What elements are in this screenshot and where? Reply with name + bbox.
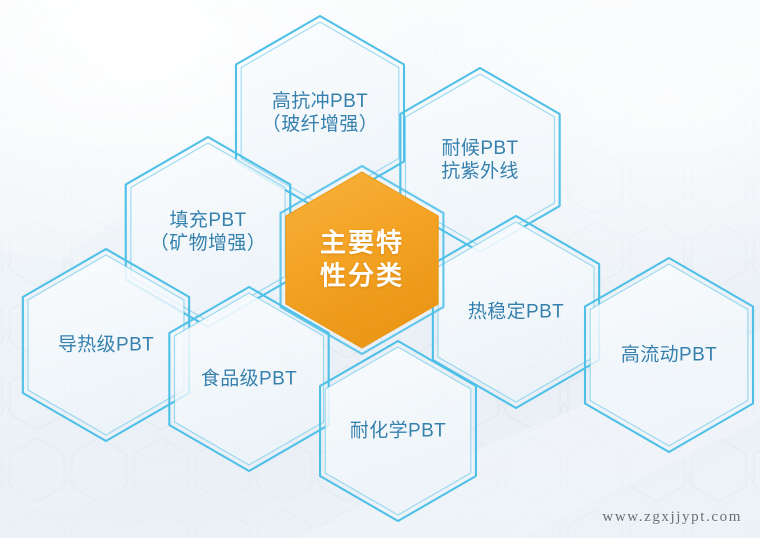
site-watermark: www.zgxjjypt.com [602, 509, 742, 526]
hexagon-inner-outline [325, 347, 471, 515]
hexagon-inner-outline [438, 222, 594, 402]
hexagon-inner-outline [590, 264, 748, 446]
hexagon-cluster [0, 0, 760, 538]
infographic-canvas: 高抗冲PBT（玻纤增强）耐候PBT抗紫外线填充PBT（矿物增强）导热级PBT食品… [0, 0, 760, 538]
